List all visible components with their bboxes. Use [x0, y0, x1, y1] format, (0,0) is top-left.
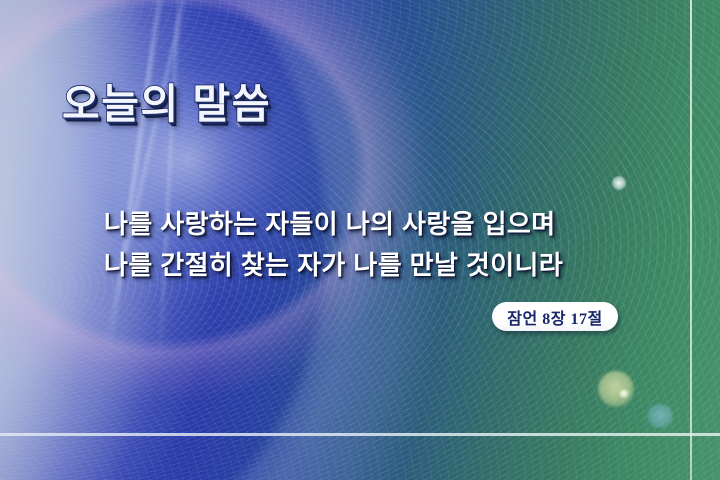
verse-line-2: 나를 간절히 찾는 자가 나를 만날 것이니라 — [104, 245, 624, 286]
verse-line-1: 나를 사랑하는 자들이 나의 사랑을 입으며 — [104, 204, 624, 245]
scripture-reference-label: 잠언 8장 17절 — [507, 305, 602, 329]
verse-text-block: 나를 사랑하는 자들이 나의 사랑을 입으며 나를 간절히 찾는 자가 나를 만… — [104, 204, 624, 286]
presentation-slide: 오늘의 말씀 나를 사랑하는 자들이 나의 사랑을 입으며 나를 간절히 찾는 … — [0, 0, 720, 480]
slide-title: 오늘의 말씀 — [62, 70, 271, 130]
scripture-reference-badge: 잠언 8장 17절 — [492, 302, 618, 331]
slide-content: 오늘의 말씀 나를 사랑하는 자들이 나의 사랑을 입으며 나를 간절히 찾는 … — [0, 0, 720, 480]
